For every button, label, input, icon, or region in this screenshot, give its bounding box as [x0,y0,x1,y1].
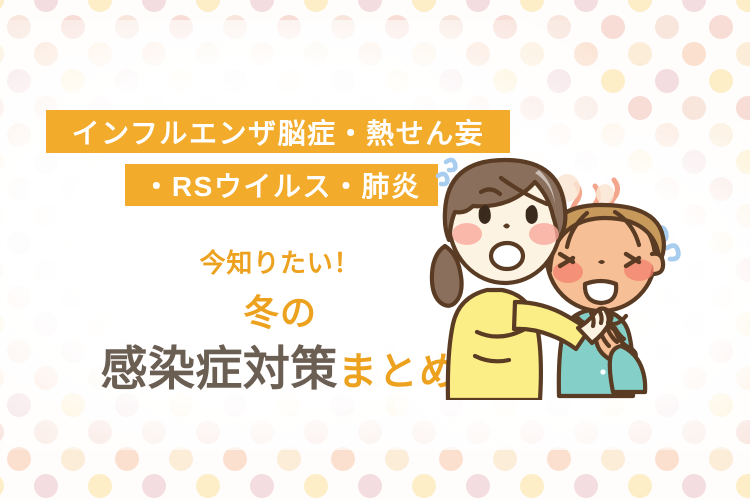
banner-line-1: インフルエンザ脳症・熱せん妄 [46,110,510,153]
poster-canvas: .ol { stroke:#5a3b23; stroke-width:4.2; … [0,0,750,500]
mother-and-child-illustration: .ol { stroke:#5a3b23; stroke-width:4.2; … [415,150,750,400]
mother-blush-left [452,223,482,245]
child-blush-left [553,261,583,283]
banner-line-2: ・RSウイルス・肺炎 [125,164,438,206]
headline-main-dark: 感染症対策 [100,342,337,395]
mother-blush-right [529,223,559,245]
